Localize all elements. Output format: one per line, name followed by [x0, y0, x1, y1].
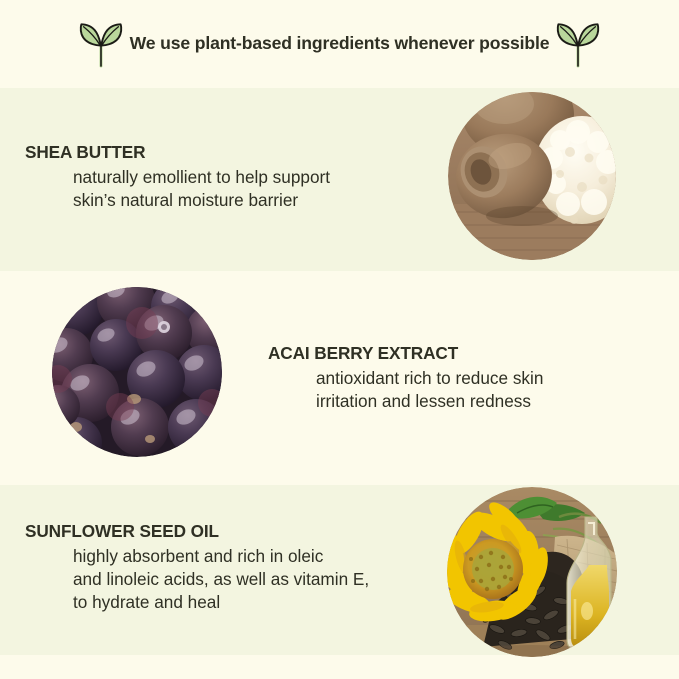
ingredient-description: antioxidant rich to reduce skin irritati… — [268, 367, 668, 414]
ingredient-title: SHEA BUTTER — [25, 142, 445, 163]
sprout-leaf-icon — [78, 20, 124, 68]
sprout-leaf-icon — [555, 20, 601, 68]
shea-butter-photo — [448, 92, 616, 260]
ingredient-title: SUNFLOWER SEED OIL — [25, 521, 445, 542]
ingredients-infographic: We use plant-based ingredients whenever … — [0, 0, 679, 679]
ingredient-text-acai-berry: ACAI BERRY EXTRACT antioxidant rich to r… — [268, 343, 668, 413]
ingredient-title: ACAI BERRY EXTRACT — [268, 343, 668, 364]
ingredient-text-sunflower-seed-oil: SUNFLOWER SEED OIL highly absorbent and … — [25, 521, 445, 615]
ingredient-text-shea-butter: SHEA BUTTER naturally emollient to help … — [25, 142, 445, 212]
ingredient-description: naturally emollient to help support skin… — [25, 166, 445, 213]
ingredient-description: highly absorbent and rich in oleic and l… — [25, 545, 445, 615]
acai-berry-photo — [52, 287, 222, 457]
header-banner: We use plant-based ingredients whenever … — [0, 0, 679, 88]
sunflower-seed-oil-photo — [447, 487, 617, 657]
page-title: We use plant-based ingredients whenever … — [130, 35, 550, 53]
